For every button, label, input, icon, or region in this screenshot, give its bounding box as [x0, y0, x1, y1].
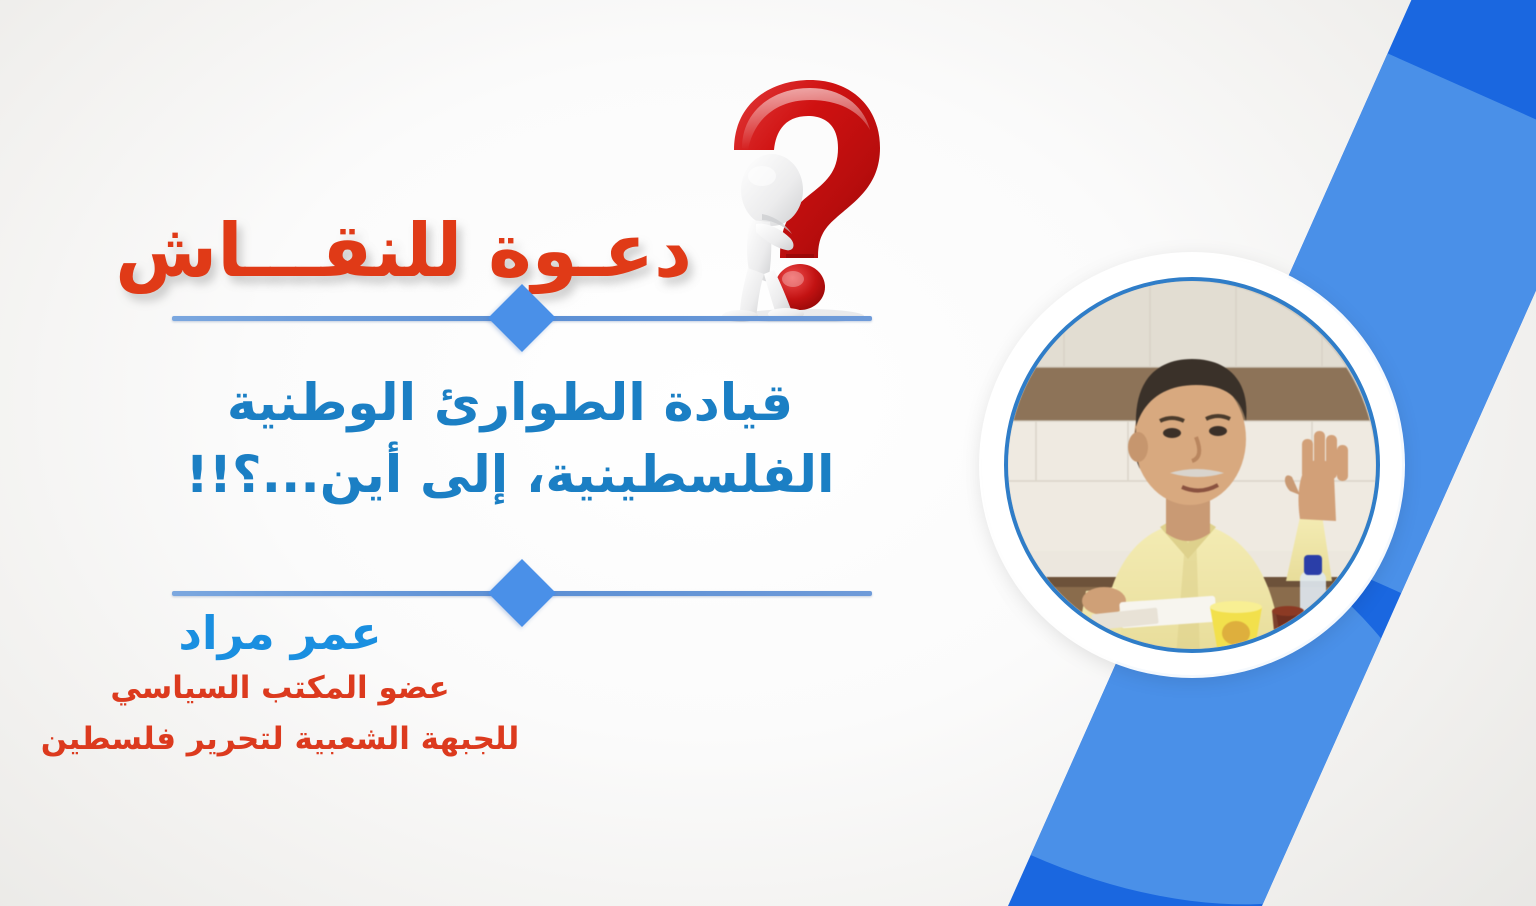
speaker-role-line-2: للجبهة الشعبية لتحرير فلسطين — [0, 717, 560, 762]
main-title: قيادة الطوارئ الوطنية الفلسطينية، إلى أي… — [150, 368, 870, 513]
poster-canvas: دعـوة للنقـــاش قيادة الطوارئ الوطنية ال… — [0, 0, 1536, 906]
main-title-line-1: قيادة الطوارئ الوطنية — [150, 368, 870, 440]
diamond-separator-icon — [488, 284, 556, 352]
speaker-photo — [1008, 281, 1376, 649]
content-column: دعـوة للنقـــاش قيادة الطوارئ الوطنية ال… — [0, 0, 900, 906]
speaker-name: عمر مراد — [0, 606, 560, 660]
portrait-ring — [1004, 277, 1380, 653]
speaker-photo-illustration — [1008, 281, 1376, 649]
speaker-portrait-frame — [982, 255, 1402, 675]
thinking-person-icon — [710, 72, 890, 322]
headline-row: دعـوة للنقـــاش — [130, 72, 890, 322]
divider-top — [172, 288, 872, 348]
main-title-line-2: الفلسطينية، إلى أين...؟!! — [150, 440, 870, 512]
speaker-block: عمر مراد عضو المكتب السياسي للجبهة الشعب… — [0, 606, 560, 762]
speaker-role-line-1: عضو المكتب السياسي — [0, 666, 560, 711]
question-mark-3d-icon — [710, 72, 890, 322]
